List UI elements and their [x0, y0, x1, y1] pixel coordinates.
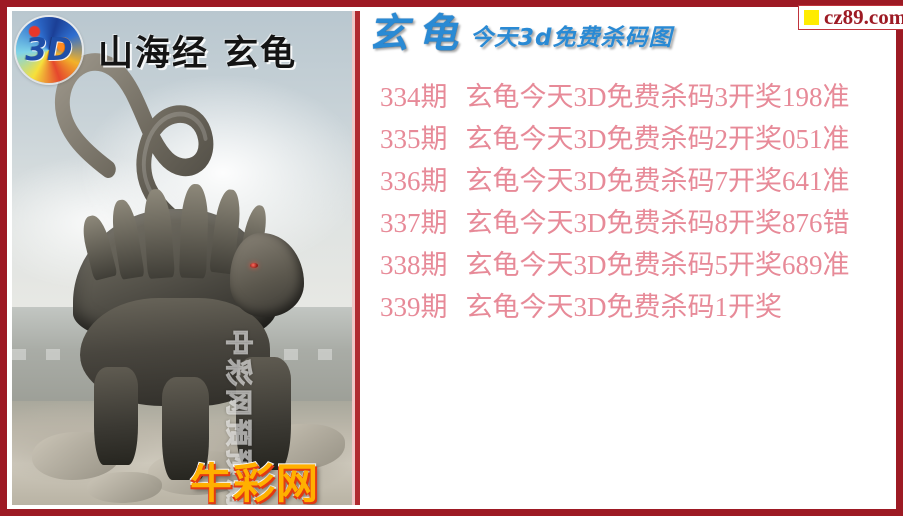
list-item: 334期 玄龟今天3D免费杀码3开奖198准	[360, 73, 896, 115]
list-item: 337期 玄龟今天3D免费杀码8开奖876错	[360, 199, 896, 241]
panel-divider	[355, 11, 360, 505]
row-period: 337期	[380, 201, 448, 240]
row-text: 玄龟今天3D免费杀码8开奖876错	[466, 201, 850, 240]
brand-logo-name: 牛彩网	[190, 463, 319, 505]
row-text: 玄龟今天3D免费杀码2开奖051准	[466, 117, 850, 156]
row-period: 336期	[380, 159, 448, 198]
row-text: 玄龟今天3D免费杀码7开奖641准	[466, 159, 850, 198]
brand-logo-niucaiwang: 牛彩网 www.cz89.com	[190, 463, 319, 505]
list-item: 335期 玄龟今天3D免费杀码2开奖051准	[360, 115, 896, 157]
list-item: 338期 玄龟今天3D免费杀码5开奖689准	[360, 241, 896, 283]
left-panel-title: 山海经 玄龟	[98, 25, 297, 76]
right-content-panel: 玄龟 今天3d免费杀码图 334期 玄龟今天3D免费杀码3开奖198准 335期…	[360, 11, 896, 505]
left-panel-header: 山海经 玄龟	[12, 11, 352, 85]
right-header-main: 玄龟	[368, 14, 468, 54]
site-badge-label: cz89.com	[824, 7, 903, 28]
3d-lottery-logo-icon	[16, 17, 82, 83]
row-period: 338期	[380, 243, 448, 282]
row-period: 334期	[380, 75, 448, 114]
list-item: 339期 玄龟今天3D免费杀码1开奖	[360, 283, 896, 325]
row-period: 335期	[380, 117, 448, 156]
site-badge[interactable]: cz89.com	[798, 5, 903, 30]
creature-eye	[250, 263, 258, 268]
row-text: 玄龟今天3D免费杀码3开奖198准	[466, 75, 850, 114]
right-panel-header: 玄龟 今天3d免费杀码图	[368, 14, 672, 54]
kill-code-list: 334期 玄龟今天3D免费杀码3开奖198准 335期 玄龟今天3D免费杀码2开…	[360, 73, 896, 325]
row-period: 339期	[380, 285, 448, 324]
list-item: 336期 玄龟今天3D免费杀码7开奖641准	[360, 157, 896, 199]
turtle-creature-illustration	[12, 11, 352, 505]
creature-leg	[94, 367, 138, 466]
right-header-sub: 今天3d免费杀码图	[470, 27, 672, 50]
row-text: 玄龟今天3D免费杀码5开奖689准	[466, 243, 850, 282]
left-image-panel: 中彩网預预测 山海经 玄龟 牛彩网 www.cz89.com	[12, 11, 352, 505]
yellow-square-icon	[804, 10, 819, 25]
creature-head	[230, 233, 305, 317]
row-text: 玄龟今天3D免费杀码1开奖	[466, 285, 783, 324]
poster-root: 中彩网預预测 山海经 玄龟 牛彩网 www.cz89.com 玄龟 今天3d免费…	[0, 0, 903, 516]
